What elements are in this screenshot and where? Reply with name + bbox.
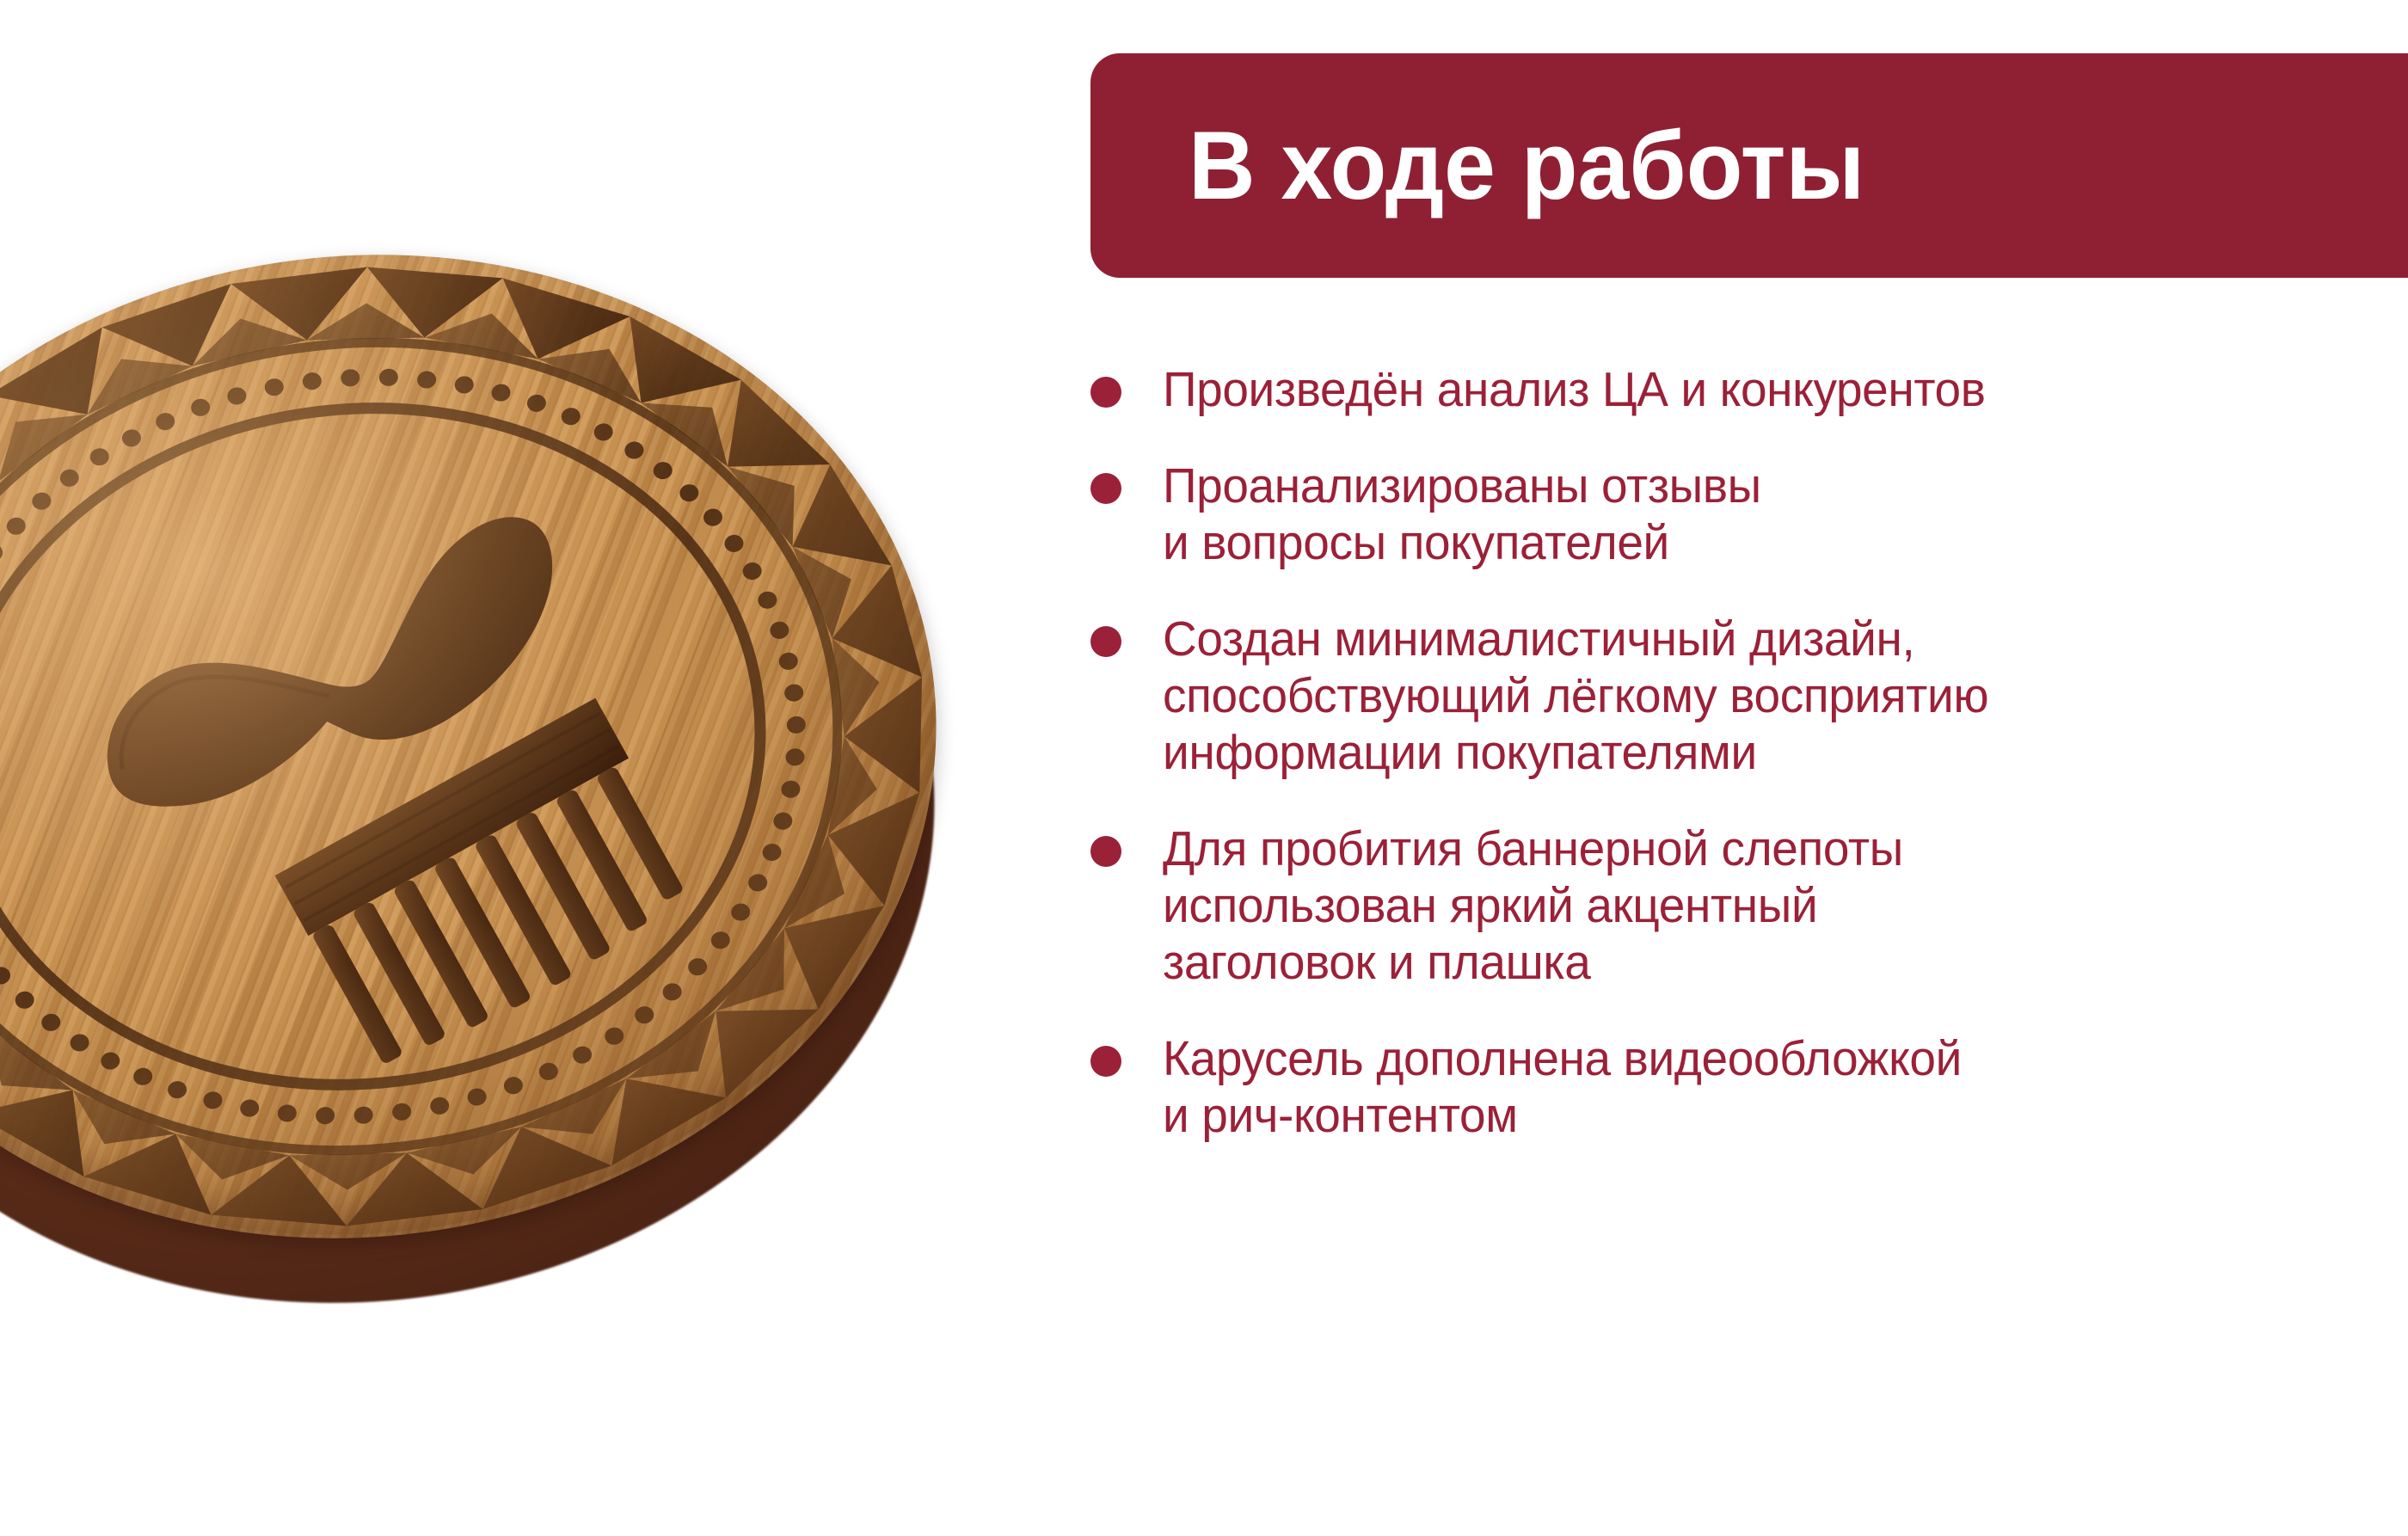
bullet-list: Произведён анализ ЦА и конкурентов Проан… xyxy=(1090,361,2408,1183)
bullet-dot-icon xyxy=(1090,836,1121,867)
list-item: Для пробития баннерной слепоты использов… xyxy=(1090,820,2408,991)
page-title: В ходе работы xyxy=(1189,118,1864,214)
list-item: Карусель дополнена видеообложкой и рич-к… xyxy=(1090,1030,2408,1144)
list-item-line: Произведён анализ ЦА и конкурентов xyxy=(1163,361,1986,418)
list-item-text: Создан минималистичный дизайн, способств… xyxy=(1163,611,2018,781)
box-lid-face xyxy=(0,189,992,1304)
list-item-text: Проанализированы отзывы и вопросы покупа… xyxy=(1163,458,1783,571)
bullet-dot-icon xyxy=(1090,473,1121,504)
list-item-line: использован яркий акцентный xyxy=(1163,877,1903,934)
bullet-dot-icon xyxy=(1090,1046,1121,1077)
list-item-text: Для пробития баннерной слепоты использов… xyxy=(1163,820,1930,991)
list-item: Проанализированы отзывы и вопросы покупа… xyxy=(1090,458,2408,571)
bullet-dot-icon xyxy=(1090,377,1121,408)
list-item-line: и рич-контентом xyxy=(1163,1087,1962,1144)
list-item-line: Проанализированы отзывы xyxy=(1163,458,1761,514)
list-item: Произведён анализ ЦА и конкурентов xyxy=(1090,361,2408,418)
slide-root: В ходе работы Произведён анализ ЦА и кон… xyxy=(0,0,2408,1536)
wooden-box-image xyxy=(0,256,955,1314)
list-item: Создан минималистичный дизайн, способств… xyxy=(1090,611,2408,781)
content-column: В ходе работы Произведён анализ ЦА и кон… xyxy=(1090,0,2408,1536)
list-item-text: Карусель дополнена видеообложкой и рич-к… xyxy=(1163,1030,1991,1144)
engraving-artwork xyxy=(0,189,992,1304)
list-item-text: Произведён анализ ЦА и конкурентов xyxy=(1163,361,2015,418)
list-item-line: и вопросы покупателей xyxy=(1163,514,1761,571)
bullet-dot-icon xyxy=(1090,626,1121,657)
title-banner: В ходе работы xyxy=(1090,53,2408,278)
list-item-line: способствующий лёгкому восприятию xyxy=(1163,667,1988,724)
list-item-line: Карусель дополнена видеообложкой xyxy=(1163,1030,1962,1087)
list-item-line: заголовок и плашка xyxy=(1163,934,1903,991)
product-photo xyxy=(0,0,1015,1536)
list-item-line: Создан минималистичный дизайн, xyxy=(1163,611,1988,667)
list-item-line: Для пробития баннерной слепоты xyxy=(1163,820,1903,877)
list-item-line: информации покупателями xyxy=(1163,724,1988,781)
